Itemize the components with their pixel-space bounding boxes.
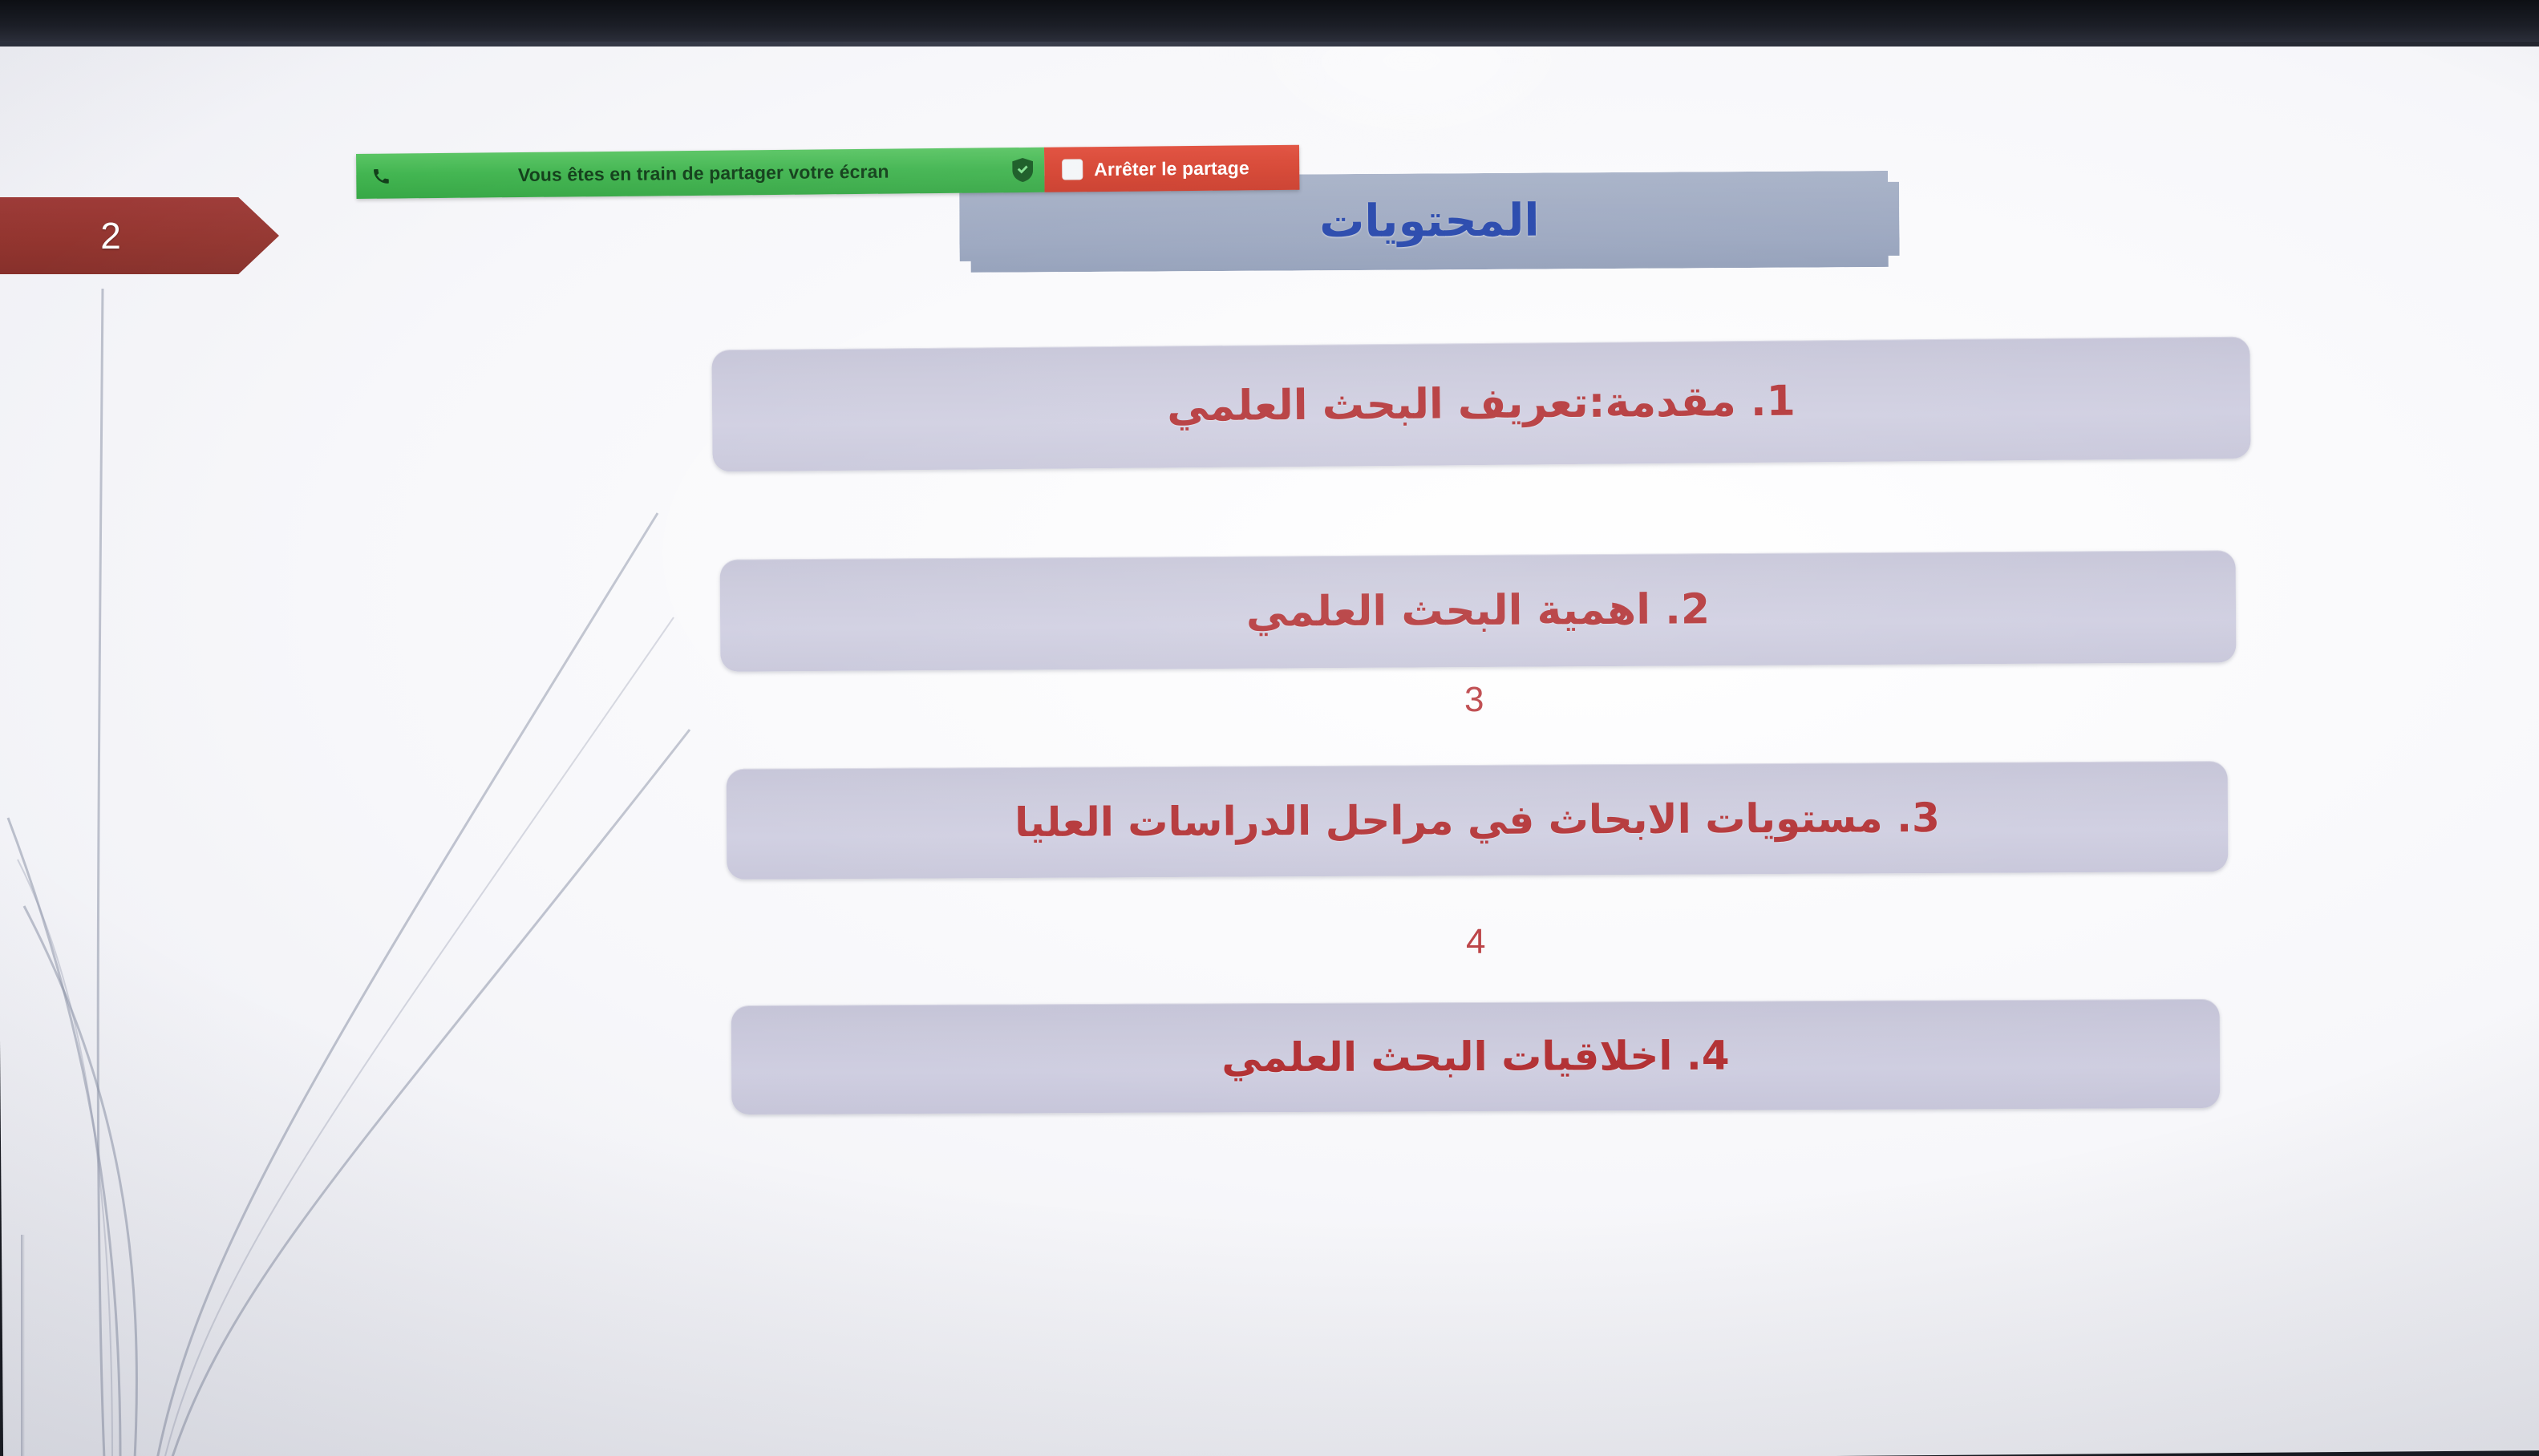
screen-share-toolbar: Vous êtes en train de partager votre écr…	[356, 145, 1299, 199]
sharing-status-banner: Vous êtes en train de partager votre écr…	[356, 148, 1044, 199]
presentation-slide: 2 المحتويات 1. مقدمة:تعريف البحث العلمي …	[0, 0, 2539, 1456]
toc-item-3-label: 3. مستويات الابحاث في مراحل الدراسات الع…	[1014, 797, 1940, 844]
toc-item-4-label: 4. اخلاقيات البحث العلمي	[1221, 1034, 1729, 1078]
stray-number-3: 3	[1464, 680, 1484, 720]
slide-number-label: 2	[0, 197, 233, 274]
shield-check-icon[interactable]	[1010, 156, 1035, 184]
toc-item-1-label: 1. مقدمة:تعريف البحث العلمي	[1167, 379, 1796, 428]
sharing-status-label: Vous êtes en train de partager votre écr…	[406, 159, 1044, 187]
monitor-bezel-top	[0, 0, 2539, 47]
stop-square-icon	[1062, 159, 1083, 180]
page-title: المحتويات	[1319, 199, 1540, 245]
toc-item-4[interactable]: 4. اخلاقيات البحث العلمي	[731, 999, 2221, 1114]
toc-item-1[interactable]: 1. مقدمة:تعريف البحث العلمي	[711, 337, 2250, 472]
phone-icon	[356, 167, 406, 185]
decorative-branches	[0, 265, 786, 1456]
panel-edge-seam	[21, 1235, 25, 1456]
screen-photo: 2 المحتويات 1. مقدمة:تعريف البحث العلمي …	[0, 0, 2539, 1456]
toc-item-2[interactable]: 2. اهمية البحث العلمي	[720, 550, 2237, 672]
slide-number-tab: 2	[0, 197, 279, 274]
toc-item-3[interactable]: 3. مستويات الابحاث في مراحل الدراسات الع…	[727, 761, 2229, 880]
stop-sharing-label: Arrêter le partage	[1094, 157, 1249, 180]
toc-item-2-label: 2. اهمية البحث العلمي	[1246, 588, 1711, 634]
stray-number-4: 4	[1466, 922, 1485, 962]
stop-sharing-button[interactable]: Arrêter le partage	[1044, 145, 1300, 192]
